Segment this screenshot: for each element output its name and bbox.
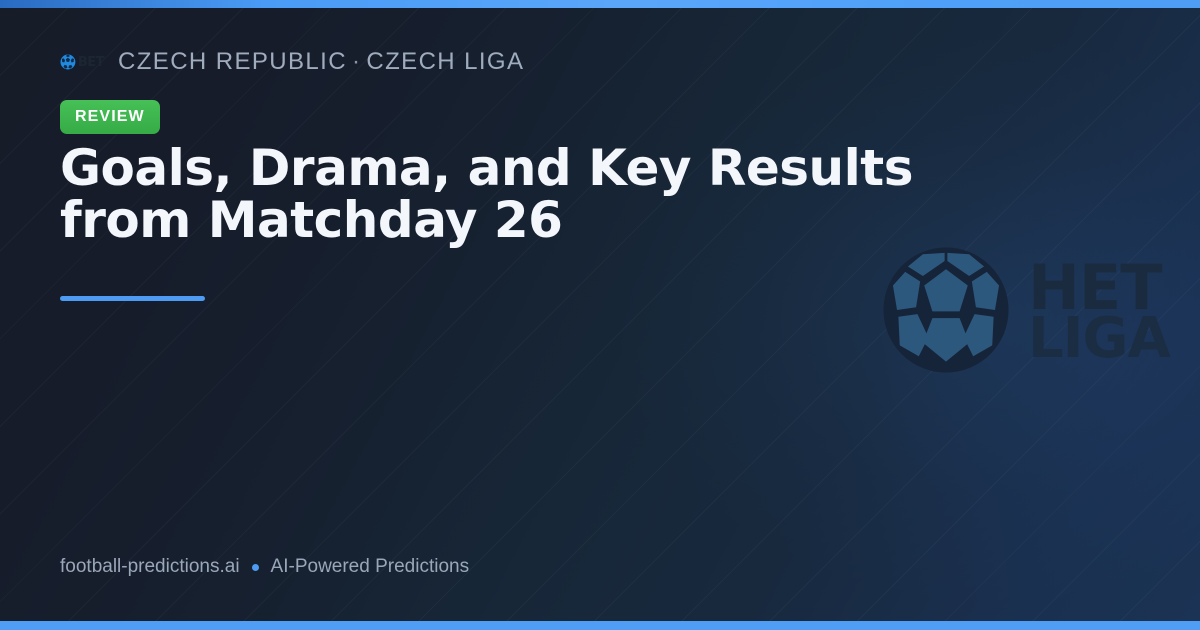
footer: football-predictions.ai AI-Powered Predi… — [60, 556, 469, 578]
page-title: Goals, Drama, and Key Results from Match… — [60, 142, 995, 246]
breadcrumb-separator: · — [347, 48, 366, 75]
football-ball-icon — [60, 51, 76, 73]
brand-word: BET — [78, 56, 104, 69]
title-accent-underline — [60, 296, 205, 301]
footer-site: football-predictions.ai — [60, 556, 240, 578]
breadcrumb-text: CZECH REPUBLIC·CZECH LIGA — [118, 48, 524, 76]
footer-tagline: AI-Powered Predictions — [271, 556, 470, 578]
league-brand-mark: BET — [60, 48, 104, 76]
breadcrumb: BET CZECH REPUBLIC·CZECH LIGA — [60, 42, 524, 82]
status-badge: REVIEW — [60, 100, 160, 134]
dot-icon — [252, 564, 259, 571]
social-share-card: HET LIGA BET — [0, 0, 1200, 630]
card-content: BET CZECH REPUBLIC·CZECH LIGA REVIEW Goa… — [60, 0, 1060, 630]
breadcrumb-country: CZECH REPUBLIC — [118, 48, 347, 75]
breadcrumb-league: CZECH LIGA — [366, 48, 524, 75]
